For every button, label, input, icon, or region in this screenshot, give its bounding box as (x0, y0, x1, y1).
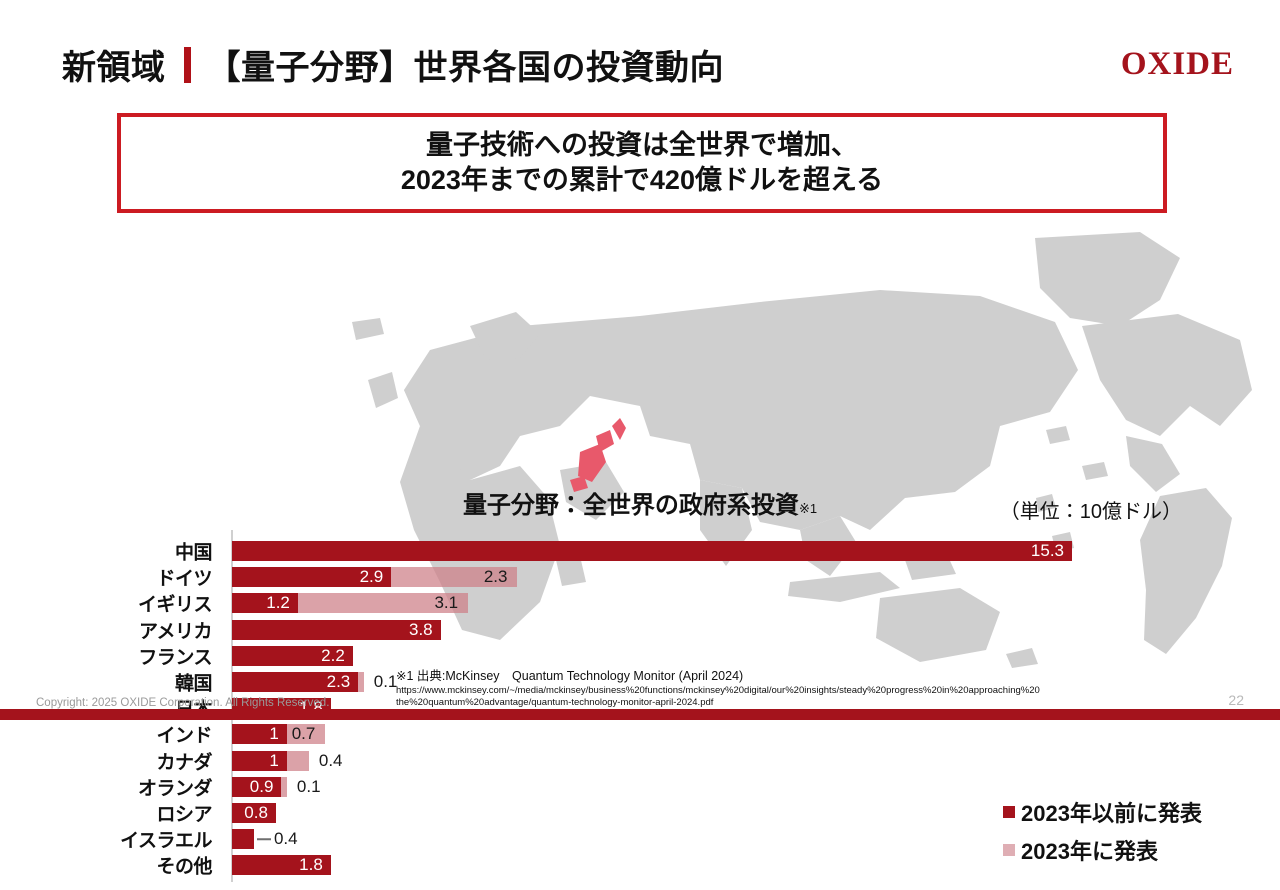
bar-value-label: 2.3 (0, 672, 350, 692)
page-title: 新領域 【量子分野】世界各国の投資動向 (62, 40, 724, 89)
value-leader-line (257, 839, 271, 841)
bar-segment-announced-2023 (287, 751, 309, 771)
copyright-text: Copyright: 2025 OXIDE Corporation. All R… (36, 697, 329, 709)
bar-segment-announced-before-2023 (232, 829, 254, 849)
bar-row: インド10.7 (0, 721, 1280, 747)
bar-value-label: 0.9 (0, 777, 273, 797)
bar-row: フランス2.2 (0, 643, 1280, 669)
page-number: 22 (1228, 692, 1244, 708)
legend-item[interactable]: 2023年以前に発表 (1003, 796, 1202, 828)
bar-value-label: 15.3 (0, 541, 1064, 561)
key-message-box: 量子技術への投資は全世界で増加、 2023年までの累計で420億ドルを超える (117, 113, 1167, 213)
source-url-line-1[interactable]: https://www.mckinsey.com/~/media/mckinse… (396, 685, 1236, 697)
source-citation: ※1 出典:McKinsey Quantum Technology Monito… (396, 668, 1236, 685)
source-url-line-2[interactable]: the%20quantum%20advantage/quantum-techno… (396, 697, 1236, 709)
key-message-line-1: 量子技術への投資は全世界で増加、 (426, 128, 858, 163)
bar-value-label: 2.2 (0, 646, 345, 666)
bar-value-label-2023: 0.4 (319, 751, 343, 771)
chart-legend: 2023年以前に発表2023年に発表 (1003, 796, 1202, 872)
bar-value-label-2023: 0.1 (297, 777, 321, 797)
bar-value-label: 0.8 (0, 803, 268, 823)
page-title-main: 【量子分野】世界各国の投資動向 (207, 40, 725, 89)
bar-value-label: 3.8 (0, 620, 433, 640)
key-message-line-2: 2023年までの累計で420億ドルを超える (401, 163, 883, 198)
title-divider (184, 47, 191, 83)
legend-swatch-icon (1003, 806, 1015, 818)
bar-row: 中国15.3 (0, 538, 1280, 564)
bar-row-label: イスラエル (0, 826, 212, 853)
bar-segment-announced-2023 (358, 672, 363, 692)
chart-area: 量子分野：全世界の政府系投資※1 （単位：10億ドル） 中国15.3ドイツ2.9… (0, 230, 1280, 670)
source-note: ※1 出典:McKinsey Quantum Technology Monito… (396, 668, 1236, 709)
bar-row: カナダ10.4 (0, 748, 1280, 774)
bar-row: イギリス1.23.1 (0, 590, 1280, 616)
bar-value-label-2023: 0.7 (0, 724, 315, 744)
chart-unit-label: （単位：10億ドル） (1000, 495, 1182, 524)
bar-row: アメリカ3.8 (0, 617, 1280, 643)
bar-value-label-2023: 3.1 (0, 593, 458, 613)
bar-segment-announced-2023 (281, 777, 286, 797)
bar-value-label: 0.4 (274, 829, 298, 849)
legend-label: 2023年に発表 (1021, 834, 1158, 866)
oxide-logo: OXIDE (1121, 46, 1234, 83)
legend-swatch-icon (1003, 844, 1015, 856)
bar-value-label: 1.8 (0, 855, 323, 875)
bar-group (232, 829, 254, 849)
legend-label: 2023年以前に発表 (1021, 796, 1202, 828)
bar-row: ドイツ2.92.3 (0, 564, 1280, 590)
legend-item[interactable]: 2023年に発表 (1003, 834, 1202, 866)
slide-header: 新領域 【量子分野】世界各国の投資動向 OXIDE (0, 0, 1280, 100)
bar-value-label-2023: 0.1 (374, 672, 398, 692)
page-title-category: 新領域 (62, 40, 166, 89)
bar-value-label-2023: 2.3 (0, 567, 507, 587)
bar-value-label: 1 (0, 751, 279, 771)
footer-accent-bar (0, 709, 1280, 720)
